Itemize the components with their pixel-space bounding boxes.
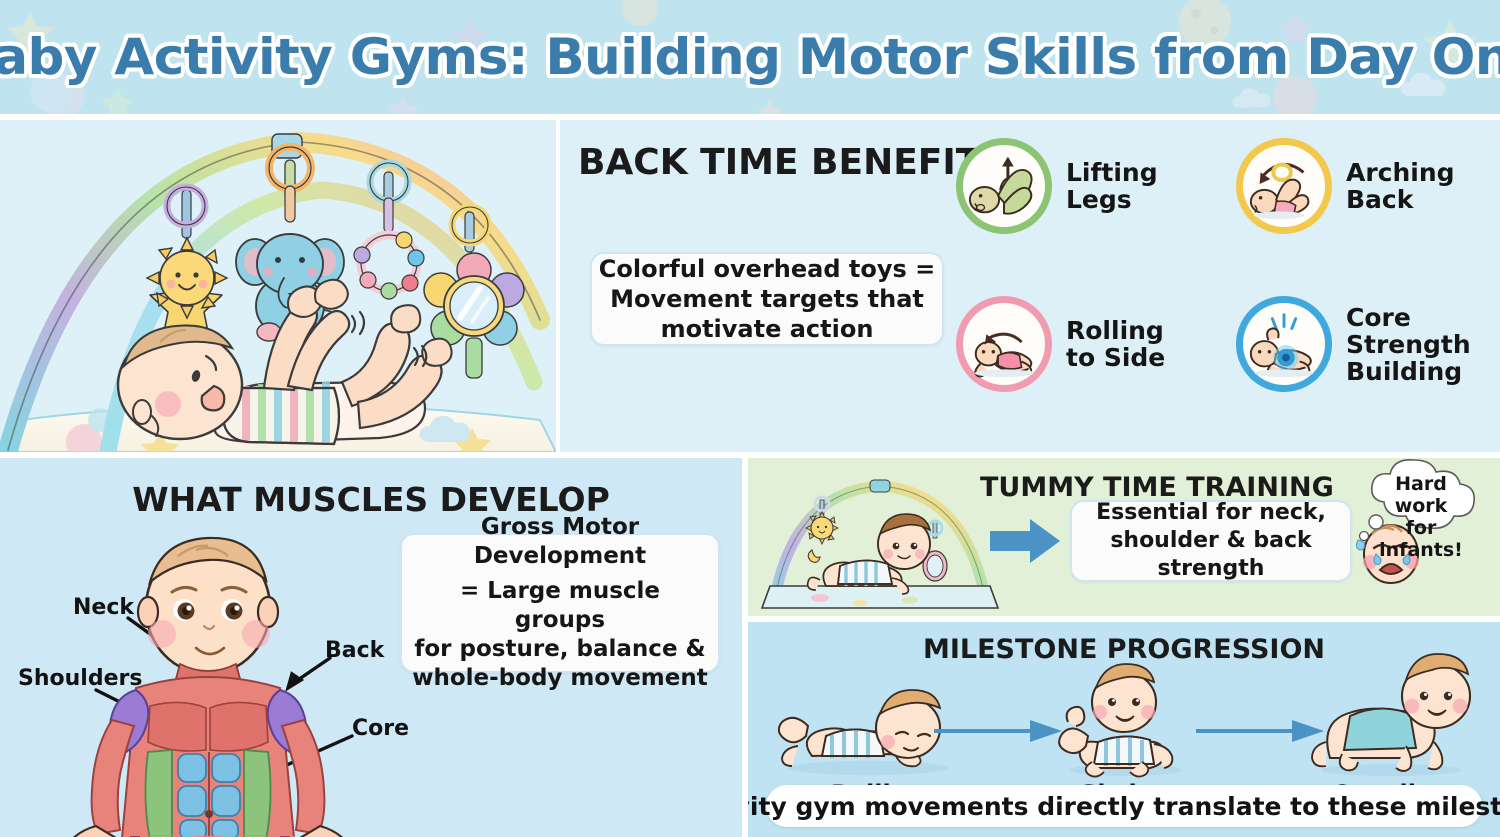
tummy-time-panel: TUMMY TIME TRAINING: [748, 458, 1500, 616]
gross-motor-body: = Large muscle groups for posture, balan…: [412, 577, 708, 693]
muscle-label-back: Back: [325, 638, 384, 663]
title-band: Baby Activity Gyms: Building Motor Skill…: [0, 0, 1500, 114]
muscle-label-shoulders: Shoulders: [18, 666, 142, 691]
page-title: Baby Activity Gyms: Building Motor Skill…: [0, 0, 1500, 114]
baby-crawling-stage-icon: [1296, 650, 1486, 778]
benefit-lifting-legs: Lifting Legs: [956, 138, 1158, 234]
benefit-label-lifting-legs: Lifting Legs: [1066, 159, 1158, 213]
thought-bubble-text: Hard work for infants!: [1366, 473, 1476, 561]
back-time-callout: Colorful overhead toys = Movement target…: [590, 252, 944, 346]
benefit-arching-back: Arching Back: [1236, 138, 1455, 234]
back-time-callout-text: Colorful overhead toys = Movement target…: [599, 254, 935, 345]
tummy-time-callout-text: Essential for neck, shoulder & back stre…: [1072, 499, 1350, 582]
benefit-label-rolling-to-side: Rolling to Side: [1066, 317, 1165, 371]
infographic-root: Baby Activity Gyms: Building Motor Skill…: [0, 0, 1500, 837]
baby-arching-back-icon: [1236, 138, 1332, 234]
benefit-rolling-to-side: Rolling to Side: [956, 296, 1165, 392]
baby-tummy-time-illustration: [760, 462, 1000, 612]
activity-gym-scene-panel: [0, 120, 556, 452]
muscle-label-core: Core: [352, 716, 409, 741]
tummy-time-callout: Essential for neck, shoulder & back stre…: [1070, 500, 1352, 582]
milestone-panel: MILESTONE PROGRESSION Rolling: [748, 622, 1500, 837]
sun-toy: [180, 160, 189, 186]
muscles-panel: WHAT MUSCLES DEVELOP: [0, 458, 742, 837]
baby-sitting-stage-icon: [1038, 658, 1208, 778]
baby-rolling-icon: [956, 296, 1052, 392]
right-arrow-icon: [988, 513, 1064, 569]
baby-activity-gym-illustration: [0, 120, 556, 452]
back-time-heading: BACK TIME BENEFITS: [578, 142, 1006, 183]
baby-core-strength-icon: [1236, 296, 1332, 392]
back-time-benefits-panel: BACK TIME BENEFITS Colorful overhead toy…: [560, 120, 1500, 452]
benefit-core-strength: Core Strength Building: [1236, 296, 1471, 392]
milestone-banner: Activity gym movements directly translat…: [766, 785, 1482, 827]
gross-motor-callout: Gross Motor Development = Large muscle g…: [400, 533, 720, 673]
benefit-label-core-strength: Core Strength Building: [1346, 304, 1471, 385]
gross-motor-title: Gross Motor Development: [412, 513, 708, 571]
muscle-label-neck: Neck: [73, 595, 134, 620]
benefit-label-arching-back: Arching Back: [1346, 159, 1455, 213]
tummy-time-heading: TUMMY TIME TRAINING: [980, 472, 1334, 503]
baby-lifting-legs-icon: [956, 138, 1052, 234]
